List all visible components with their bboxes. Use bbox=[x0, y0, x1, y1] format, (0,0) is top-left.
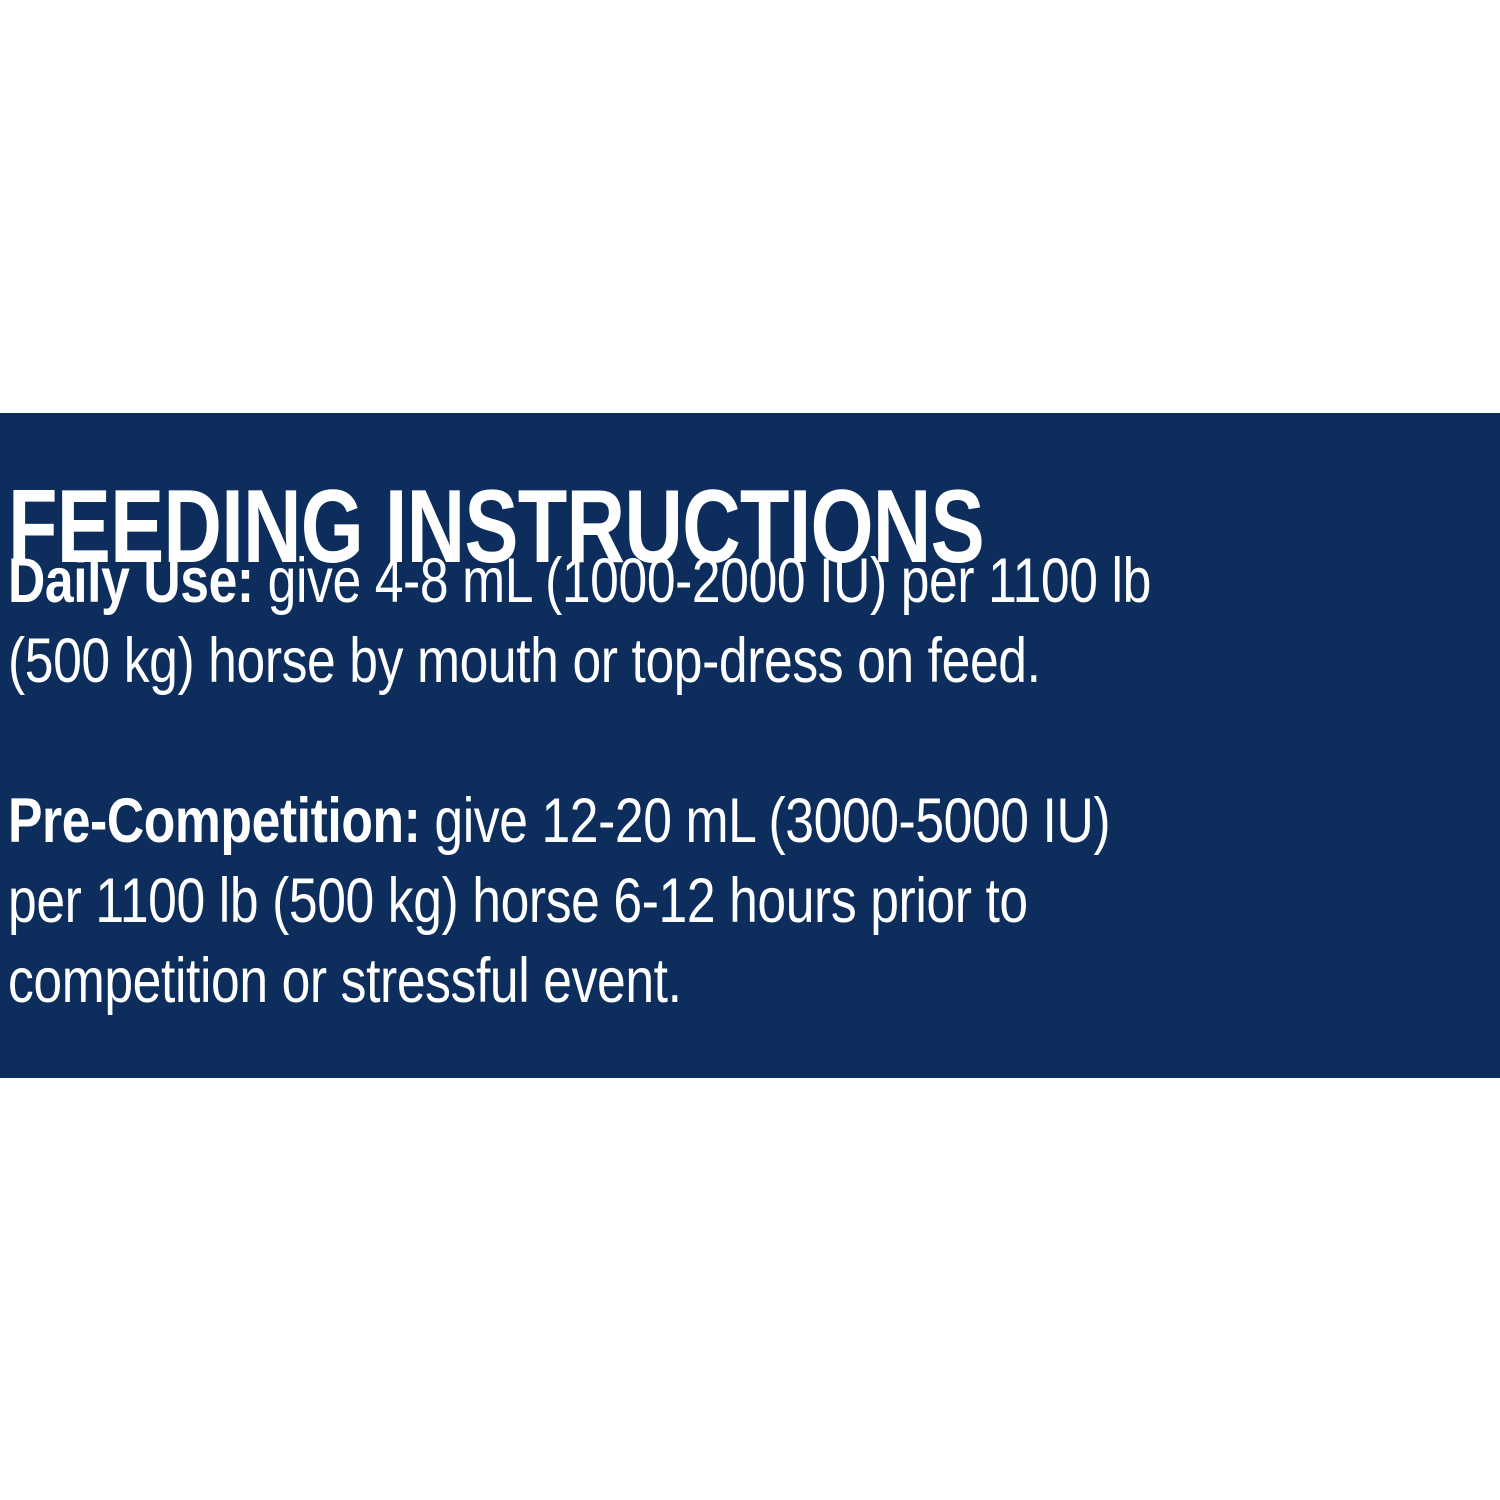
pre-competition-line-2-text: per 1100 lb (500 kg) horse 6-12 hours pr… bbox=[8, 861, 1500, 941]
instruction-daily-use: Daily Use: give 4-8 mL (1000-2000 IU) pe… bbox=[8, 541, 1500, 701]
paragraph-spacer bbox=[8, 701, 1500, 781]
pre-competition-label: Pre-Competition: bbox=[8, 786, 420, 856]
instruction-line: Daily Use: give 4-8 mL (1000-2000 IU) pe… bbox=[8, 541, 1500, 621]
daily-use-label: Daily Use: bbox=[8, 546, 254, 616]
feeding-instructions-panel: FEEDING INSTRUCTIONS Daily Use: give 4-8… bbox=[0, 413, 1500, 1078]
pre-competition-line-1-text: give 12-20 mL (3000-5000 IU) bbox=[420, 786, 1110, 856]
instruction-line: Pre-Competition: give 12-20 mL (3000-500… bbox=[8, 781, 1500, 861]
pre-competition-line-3-text: competition or stressful event. bbox=[8, 941, 1500, 1021]
instructions-body: Daily Use: give 4-8 mL (1000-2000 IU) pe… bbox=[8, 541, 1500, 1021]
daily-use-line-2-text: (500 kg) horse by mouth or top-dress on … bbox=[8, 621, 1500, 701]
product-label-canvas: FEEDING INSTRUCTIONS Daily Use: give 4-8… bbox=[0, 0, 1500, 1500]
daily-use-line-1-text: give 4-8 mL (1000-2000 IU) per 1100 lb bbox=[254, 546, 1151, 616]
instruction-pre-competition: Pre-Competition: give 12-20 mL (3000-500… bbox=[8, 781, 1500, 1021]
